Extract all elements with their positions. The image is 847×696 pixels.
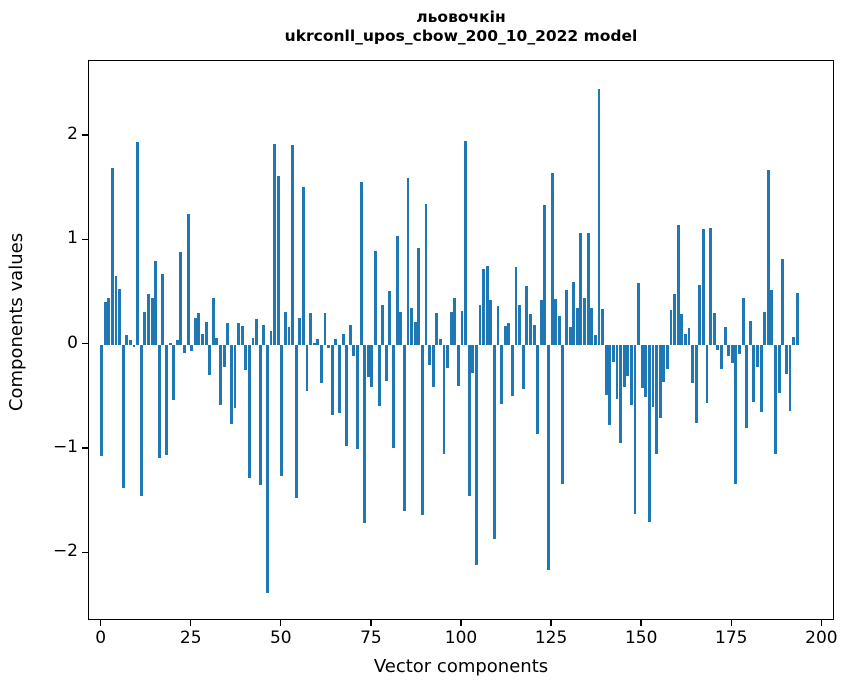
bar — [439, 339, 442, 344]
bar — [417, 248, 420, 345]
bar — [313, 343, 316, 345]
bar — [237, 323, 240, 345]
bar — [594, 335, 597, 344]
bar — [727, 345, 730, 356]
bar — [457, 345, 460, 387]
x-tick-mark — [190, 620, 191, 626]
bar — [151, 298, 154, 345]
bar — [248, 345, 251, 478]
bar — [230, 345, 233, 424]
bar — [154, 261, 157, 344]
bar — [605, 345, 608, 395]
bar — [770, 290, 773, 344]
bar — [255, 319, 258, 345]
bar — [226, 323, 229, 345]
bar — [435, 313, 438, 344]
y-tick-label: −2 — [42, 543, 78, 560]
bar — [421, 345, 424, 515]
bar — [738, 345, 741, 354]
bar — [360, 182, 363, 345]
bar — [601, 309, 604, 344]
bar — [695, 345, 698, 423]
bar — [691, 345, 694, 384]
bar — [100, 345, 103, 457]
bar — [489, 300, 492, 345]
bar — [327, 345, 330, 348]
bar — [522, 345, 525, 390]
bar — [587, 233, 590, 345]
bar — [482, 269, 485, 345]
bar — [453, 298, 456, 345]
bar — [176, 340, 179, 344]
bar — [212, 298, 215, 345]
chart-title: льовочкін ukrconll_upos_cbow_200_10_2022… — [88, 8, 834, 46]
bar — [583, 298, 586, 345]
bar — [270, 331, 273, 345]
bar — [280, 345, 283, 476]
y-tick-mark — [82, 239, 88, 240]
bar — [399, 312, 402, 344]
bar — [241, 326, 244, 345]
bar — [680, 314, 683, 344]
bar — [543, 205, 546, 345]
bar — [122, 345, 125, 488]
bar — [666, 345, 669, 369]
bar — [608, 345, 611, 425]
bar — [504, 326, 507, 345]
bar — [302, 187, 305, 344]
x-tick-label: 75 — [341, 629, 401, 648]
bar — [468, 345, 471, 496]
bar — [349, 325, 352, 345]
bar — [579, 233, 582, 345]
bar — [471, 345, 474, 373]
bar — [316, 339, 319, 344]
bar — [688, 328, 691, 345]
bar — [616, 345, 619, 399]
bar — [172, 345, 175, 400]
bar — [223, 345, 226, 367]
matplotlib-figure: льовочкін ukrconll_upos_cbow_200_10_2022… — [0, 0, 847, 696]
bar — [500, 345, 503, 404]
bar — [201, 334, 204, 344]
bar — [637, 283, 640, 345]
bar — [785, 345, 788, 374]
x-tick-mark — [550, 620, 551, 626]
bar — [356, 345, 359, 449]
bar — [742, 298, 745, 345]
bar — [475, 345, 478, 565]
x-axis-label: Vector components — [88, 656, 834, 677]
bar — [190, 345, 193, 351]
bar — [136, 142, 139, 344]
bar — [533, 325, 536, 345]
bar — [288, 327, 291, 345]
bar — [623, 345, 626, 388]
bar — [104, 302, 107, 345]
bar — [309, 313, 312, 344]
bar — [324, 313, 327, 344]
bar — [129, 340, 132, 344]
bar — [558, 316, 561, 344]
y-tick-mark — [82, 134, 88, 135]
bar — [143, 312, 146, 344]
bar — [140, 345, 143, 496]
bar — [446, 345, 449, 368]
bar — [266, 345, 269, 593]
bar — [219, 345, 222, 405]
x-tick-mark — [370, 620, 371, 626]
bar — [572, 282, 575, 345]
bar — [194, 318, 197, 345]
bar — [709, 228, 712, 345]
bar — [752, 345, 755, 402]
bar — [778, 345, 781, 393]
bar — [789, 345, 792, 412]
bar — [781, 259, 784, 345]
bar — [262, 325, 265, 345]
bar — [298, 318, 301, 345]
bar — [774, 345, 777, 454]
bar — [165, 345, 168, 456]
bar — [187, 214, 190, 344]
bar — [215, 338, 218, 344]
bar — [363, 345, 366, 523]
bar — [234, 345, 237, 409]
bar — [486, 266, 489, 344]
x-tick-mark — [460, 620, 461, 626]
bar — [111, 168, 114, 344]
bar — [183, 345, 186, 353]
bar — [306, 345, 309, 391]
bar — [133, 345, 136, 347]
bar — [507, 323, 510, 345]
bar — [569, 327, 572, 345]
bar — [536, 345, 539, 435]
bar — [161, 274, 164, 345]
bar — [749, 321, 752, 345]
bar — [670, 310, 673, 344]
bar — [576, 308, 579, 344]
bar — [107, 298, 110, 345]
bar — [673, 294, 676, 345]
bar — [385, 345, 388, 381]
bar — [497, 306, 500, 345]
x-tick-label: 100 — [431, 629, 491, 648]
bar — [716, 345, 719, 350]
bar — [493, 345, 496, 539]
x-tick-label: 0 — [71, 629, 131, 648]
bar — [540, 300, 543, 345]
bar — [619, 345, 622, 443]
bar — [392, 345, 395, 448]
bar — [767, 170, 770, 344]
x-tick-mark — [821, 620, 822, 626]
bar — [561, 345, 564, 485]
bar — [641, 345, 644, 389]
bar — [259, 345, 262, 486]
bar — [410, 308, 413, 344]
x-tick-label: 50 — [251, 629, 311, 648]
plot-area — [88, 60, 834, 620]
bar — [432, 345, 435, 388]
bar — [334, 339, 337, 344]
bar — [479, 305, 482, 345]
bar — [378, 345, 381, 407]
bar — [428, 345, 431, 366]
bar — [792, 337, 795, 344]
chart-title-line-2: ukrconll_upos_cbow_200_10_2022 model — [88, 27, 834, 46]
bar — [763, 312, 766, 344]
y-tick-label: 2 — [42, 126, 78, 143]
bar — [388, 291, 391, 344]
bar — [760, 345, 763, 413]
bar — [374, 251, 377, 345]
bar — [208, 345, 211, 375]
bar — [407, 178, 410, 345]
bar — [684, 334, 687, 344]
bar — [461, 311, 464, 344]
bar — [273, 144, 276, 344]
bar — [644, 345, 647, 397]
bar — [551, 173, 554, 345]
bar — [291, 145, 294, 344]
bar — [443, 345, 446, 454]
bar — [634, 345, 637, 514]
y-tick-mark — [82, 447, 88, 448]
bar — [425, 204, 428, 345]
bar — [756, 345, 759, 367]
bar — [320, 345, 323, 384]
bar — [403, 345, 406, 512]
bar — [511, 345, 514, 396]
bar — [464, 141, 467, 344]
bar — [284, 312, 287, 344]
bar — [381, 305, 384, 345]
y-axis-label: Components values — [5, 42, 29, 602]
bar — [734, 345, 737, 485]
x-tick-label: 150 — [611, 629, 671, 648]
bar — [125, 335, 128, 344]
y-tick-label: 0 — [42, 335, 78, 352]
bar — [598, 89, 601, 344]
bar — [115, 276, 118, 345]
bar — [277, 176, 280, 345]
bar — [331, 345, 334, 415]
bar — [518, 305, 521, 345]
x-tick-label: 25 — [161, 629, 221, 648]
bar — [367, 345, 370, 377]
bar — [515, 267, 518, 344]
bar — [396, 236, 399, 344]
bar — [342, 334, 345, 344]
y-tick-label: 1 — [42, 230, 78, 247]
y-tick-mark — [82, 343, 88, 344]
bar — [179, 252, 182, 345]
bar — [554, 299, 557, 345]
bar — [731, 345, 734, 364]
bar — [295, 345, 298, 498]
bar — [745, 345, 748, 428]
bar — [713, 313, 716, 344]
bar — [169, 343, 172, 345]
y-axis-label-container: Components values — [5, 42, 29, 602]
bar — [450, 312, 453, 344]
bar — [706, 345, 709, 403]
x-tick-mark — [280, 620, 281, 626]
bar — [655, 345, 658, 454]
x-tick-mark — [731, 620, 732, 626]
bar — [158, 345, 161, 459]
chart-title-line-1: льовочкін — [88, 8, 834, 27]
bar — [724, 327, 727, 345]
bar — [630, 345, 633, 405]
bar — [338, 345, 341, 414]
bar — [698, 285, 701, 344]
bar — [612, 345, 615, 363]
bar — [345, 345, 348, 446]
bar — [147, 294, 150, 345]
bar — [590, 308, 593, 344]
bar — [720, 345, 723, 369]
bar — [205, 322, 208, 345]
bar — [547, 345, 550, 570]
x-tick-label: 125 — [521, 629, 581, 648]
bar — [244, 345, 247, 370]
bar — [565, 290, 568, 344]
bar — [252, 338, 255, 344]
bar-series — [89, 61, 833, 619]
bar — [648, 345, 651, 522]
bar — [659, 345, 662, 418]
bar — [370, 345, 373, 388]
x-tick-label: 175 — [701, 629, 761, 648]
bar — [796, 293, 799, 345]
x-tick-mark — [640, 620, 641, 626]
y-tick-label: −1 — [42, 439, 78, 456]
bar — [197, 313, 200, 344]
x-tick-label: 200 — [791, 629, 847, 648]
bar — [662, 345, 665, 383]
bar — [352, 345, 355, 356]
bar — [702, 229, 705, 345]
x-tick-mark — [100, 620, 101, 626]
bar — [414, 322, 417, 345]
y-tick-mark — [82, 552, 88, 553]
bar — [525, 286, 528, 344]
bar — [626, 345, 629, 376]
bar — [118, 289, 121, 344]
bar — [677, 225, 680, 345]
bar — [652, 345, 655, 408]
bar — [529, 314, 532, 344]
